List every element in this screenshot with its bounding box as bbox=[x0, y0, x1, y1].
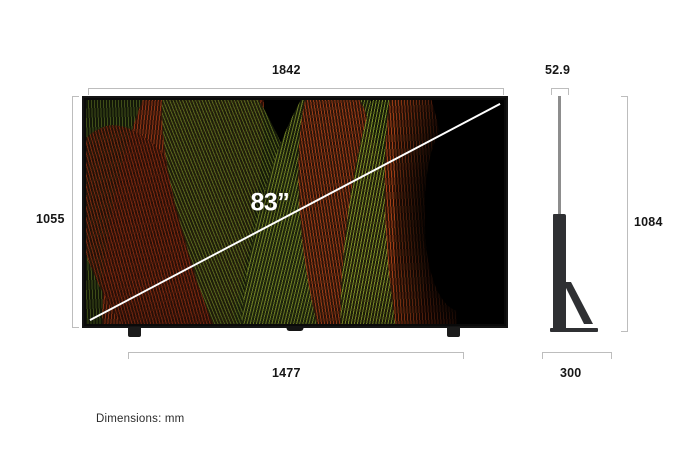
bracket-tick-right bbox=[503, 88, 504, 95]
bracket-tick-left bbox=[542, 352, 543, 359]
bracket-tick-top bbox=[72, 96, 79, 97]
bracket-tick-left bbox=[128, 352, 129, 359]
dimension-label-height-left: 1055 bbox=[36, 212, 65, 226]
dimension-bracket-stand-width bbox=[128, 352, 464, 360]
dimension-bracket-height-right bbox=[620, 96, 628, 332]
dimension-diagram: 1842 1055 bbox=[0, 0, 700, 465]
tv-logo-nub bbox=[287, 326, 304, 331]
tv-foot-left bbox=[128, 327, 141, 337]
tv-stand-base bbox=[550, 328, 598, 332]
bracket-rule bbox=[128, 352, 464, 353]
dimension-label-base-depth: 300 bbox=[560, 366, 581, 380]
bracket-rule bbox=[542, 352, 612, 353]
dimension-label-depth-top: 52.9 bbox=[545, 63, 570, 77]
bracket-tick-right bbox=[611, 352, 612, 359]
dimension-bracket-depth-top bbox=[551, 88, 569, 96]
tv-screen: 83” bbox=[86, 100, 504, 324]
dimension-bracket-base-depth bbox=[542, 352, 612, 360]
dimension-bracket-height-left bbox=[72, 96, 80, 328]
bracket-tick-top bbox=[621, 96, 628, 97]
dimension-label-height-right: 1084 bbox=[634, 215, 663, 229]
bracket-rule bbox=[627, 96, 628, 332]
bracket-tick-bottom bbox=[72, 327, 79, 328]
tv-side-view bbox=[548, 96, 600, 328]
tv-foot-right bbox=[447, 327, 460, 337]
bracket-rule bbox=[551, 88, 569, 89]
dimension-label-width-top: 1842 bbox=[272, 63, 301, 77]
bracket-tick-right bbox=[463, 352, 464, 359]
tv-panel-front: 83” bbox=[82, 96, 508, 328]
tv-stand-leg bbox=[563, 282, 593, 326]
dimension-bracket-width-top bbox=[88, 88, 504, 96]
dimension-label-stand-width: 1477 bbox=[272, 366, 301, 380]
tv-front-view: 83” bbox=[82, 96, 508, 328]
bracket-tick-right bbox=[568, 88, 569, 95]
screen-size-label: 83” bbox=[251, 189, 290, 218]
footer-note: Dimensions: mm bbox=[96, 413, 184, 425]
bracket-rule bbox=[72, 96, 73, 328]
bracket-tick-bottom bbox=[621, 331, 628, 332]
screen-diagonal-line bbox=[86, 100, 504, 324]
bracket-rule bbox=[88, 88, 504, 89]
bracket-tick-left bbox=[551, 88, 552, 95]
bracket-tick-left bbox=[88, 88, 89, 95]
